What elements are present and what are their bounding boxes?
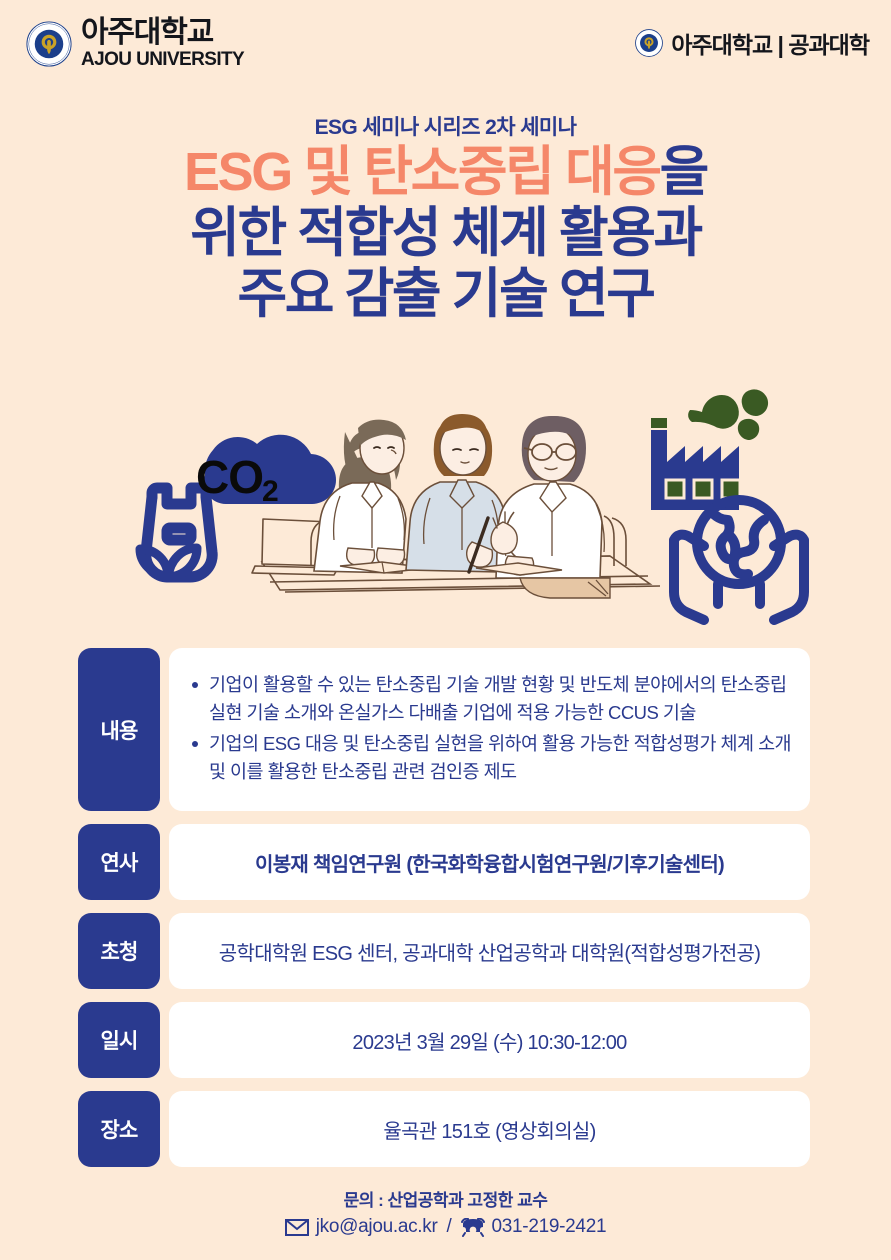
content-bullet-list: 기업이 활용할 수 있는 탄소중립 기술 개발 현황 및 반도체 분야에서의 탄… [187,671,792,787]
row-label-location: 장소 [78,1091,160,1167]
row-label-host: 초청 [78,913,160,989]
footer-contact: 문의 : 산업공학과 고정한 교수 jko@ajou.ac.kr / 031-2… [0,1186,891,1238]
row-body-speaker: 이봉재 책임연구원 (한국화학융합시험연구원/기후기술센터) [169,824,810,900]
row-body-location: 율곡관 151호 (영상회의실) [169,1091,810,1167]
header-logo-left: 1973 아주대학교 AJOU UNIVERSITY [26,18,244,69]
person-center [406,414,506,572]
datetime-value: 2023년 3월 29일 (수) 10:30-12:00 [187,1026,792,1055]
college-name-label: 아주대학교 | 공과대학 [671,26,869,60]
row-body-content: 기업이 활용할 수 있는 탄소중립 기술 개발 현황 및 반도체 분야에서의 탄… [169,648,810,811]
location-value: 율곡관 151호 (영상회의실) [187,1115,792,1144]
hands-holding-globe-icon [674,500,804,620]
header-logo-left-text: 아주대학교 AJOU UNIVERSITY [81,18,244,69]
header-logo-right: 아주대학교 | 공과대학 [635,26,869,60]
title-line-2: 위한 적합성 체계 활용과 [0,206,891,260]
title-line-1: ESG 및 탄소중립 대응을 [0,145,891,199]
list-item: 기업의 ESG 대응 및 탄소중립 실현을 위하여 활용 가능한 적합성평가 체… [207,730,792,786]
title-line-1-navy: 을 [660,142,707,202]
contact-separator: / [447,1216,452,1238]
eco-bag-leaves-icon [140,548,197,577]
phone-number: 031-219-2421 [492,1216,607,1238]
illustration-svg [0,370,891,625]
contact-line: jko@ajou.ac.kr / 031-219-2421 [0,1216,891,1238]
info-row-location: 장소 율곡관 151호 (영상회의실) [78,1091,810,1167]
meeting-people-illustration [252,414,660,598]
seminar-series-subtitle: ESG 세미나 시리즈 2차 세미나 [0,111,891,141]
ajou-university-seal-icon: 1973 [26,21,72,67]
host-value: 공학대학원 ESG 센터, 공과대학 산업공학과 대학원(적합성평가전공) [187,937,792,966]
row-body-host: 공학대학원 ESG 센터, 공과대학 산업공학과 대학원(적합성평가전공) [169,913,810,989]
row-body-datetime: 2023년 3월 29일 (수) 10:30-12:00 [169,1002,810,1078]
poster-title: ESG 및 탄소중립 대응을 위한 적합성 체계 활용과 주요 감출 기술 연구 [0,145,891,328]
telephone-icon [461,1218,485,1237]
university-name-english: AJOU UNIVERSITY [81,50,244,69]
info-row-host: 초청 공학대학원 ESG 센터, 공과대학 산업공학과 대학원(적합성평가전공) [78,913,810,989]
email-address[interactable]: jko@ajou.ac.kr [316,1216,438,1238]
poster-root: 1973 아주대학교 AJOU UNIVERSITY 아주대학교 | 공과대학 … [0,0,891,1260]
info-rows: 내용 기업이 활용할 수 있는 탄소중립 기술 개발 현황 및 반도체 분야에서… [78,648,810,1180]
ajou-university-seal-icon [635,29,663,57]
inquiry-label: 문의 : 산업공학과 고정한 교수 [0,1186,891,1211]
speaker-value: 이봉재 책임연구원 (한국화학융합시험연구원/기후기술센터) [187,848,792,877]
envelope-icon [285,1219,309,1236]
co2-text-label: CO2 [196,450,279,504]
row-label-content: 내용 [78,648,160,811]
university-name-korean: 아주대학교 [81,18,244,48]
row-label-speaker: 연사 [78,824,160,900]
row-label-datetime: 일시 [78,1002,160,1078]
info-row-content: 내용 기업이 활용할 수 있는 탄소중립 기술 개발 현황 및 반도체 분야에서… [78,648,810,811]
svg-text:1973: 1973 [45,54,53,58]
info-row-speaker: 연사 이봉재 책임연구원 (한국화학융합시험연구원/기후기술센터) [78,824,810,900]
list-item: 기업이 활용할 수 있는 탄소중립 기술 개발 현황 및 반도체 분야에서의 탄… [207,671,792,727]
title-line-3: 주요 감출 기술 연구 [0,267,891,321]
factory-green-smoke-icon [651,389,768,510]
title-line-1-coral: ESG 및 탄소중립 대응 [184,142,660,202]
illustration-area: CO2 [0,370,891,625]
info-row-datetime: 일시 2023년 3월 29일 (수) 10:30-12:00 [78,1002,810,1078]
